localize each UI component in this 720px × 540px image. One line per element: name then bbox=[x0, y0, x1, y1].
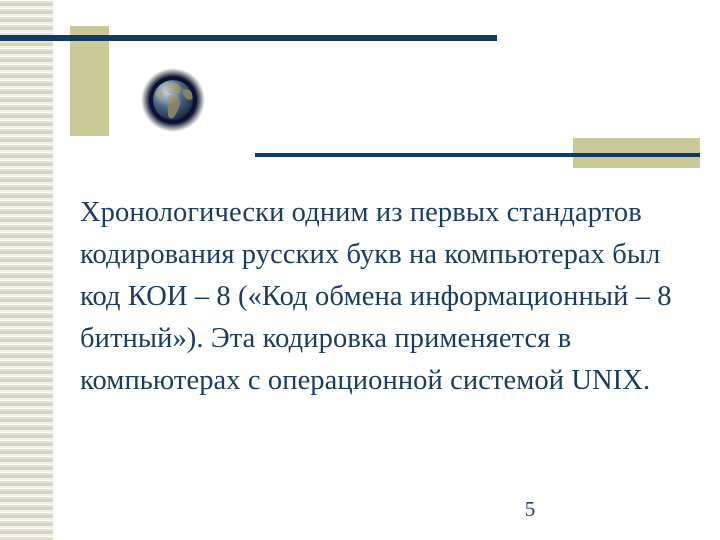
body-paragraph: Хронологически одним из первых стандарто… bbox=[80, 192, 695, 402]
tan-rectangle-left bbox=[70, 26, 109, 136]
navy-rule-top bbox=[0, 35, 497, 41]
navy-rule-middle bbox=[255, 153, 700, 157]
slide-canvas: Хронологически одним из первых стандарто… bbox=[0, 0, 720, 540]
globe-icon bbox=[138, 65, 208, 135]
left-striped-band bbox=[0, 0, 53, 540]
slide-number: 5 bbox=[500, 497, 560, 521]
slide-body-text: Хронологически одним из первых стандарто… bbox=[80, 192, 695, 402]
